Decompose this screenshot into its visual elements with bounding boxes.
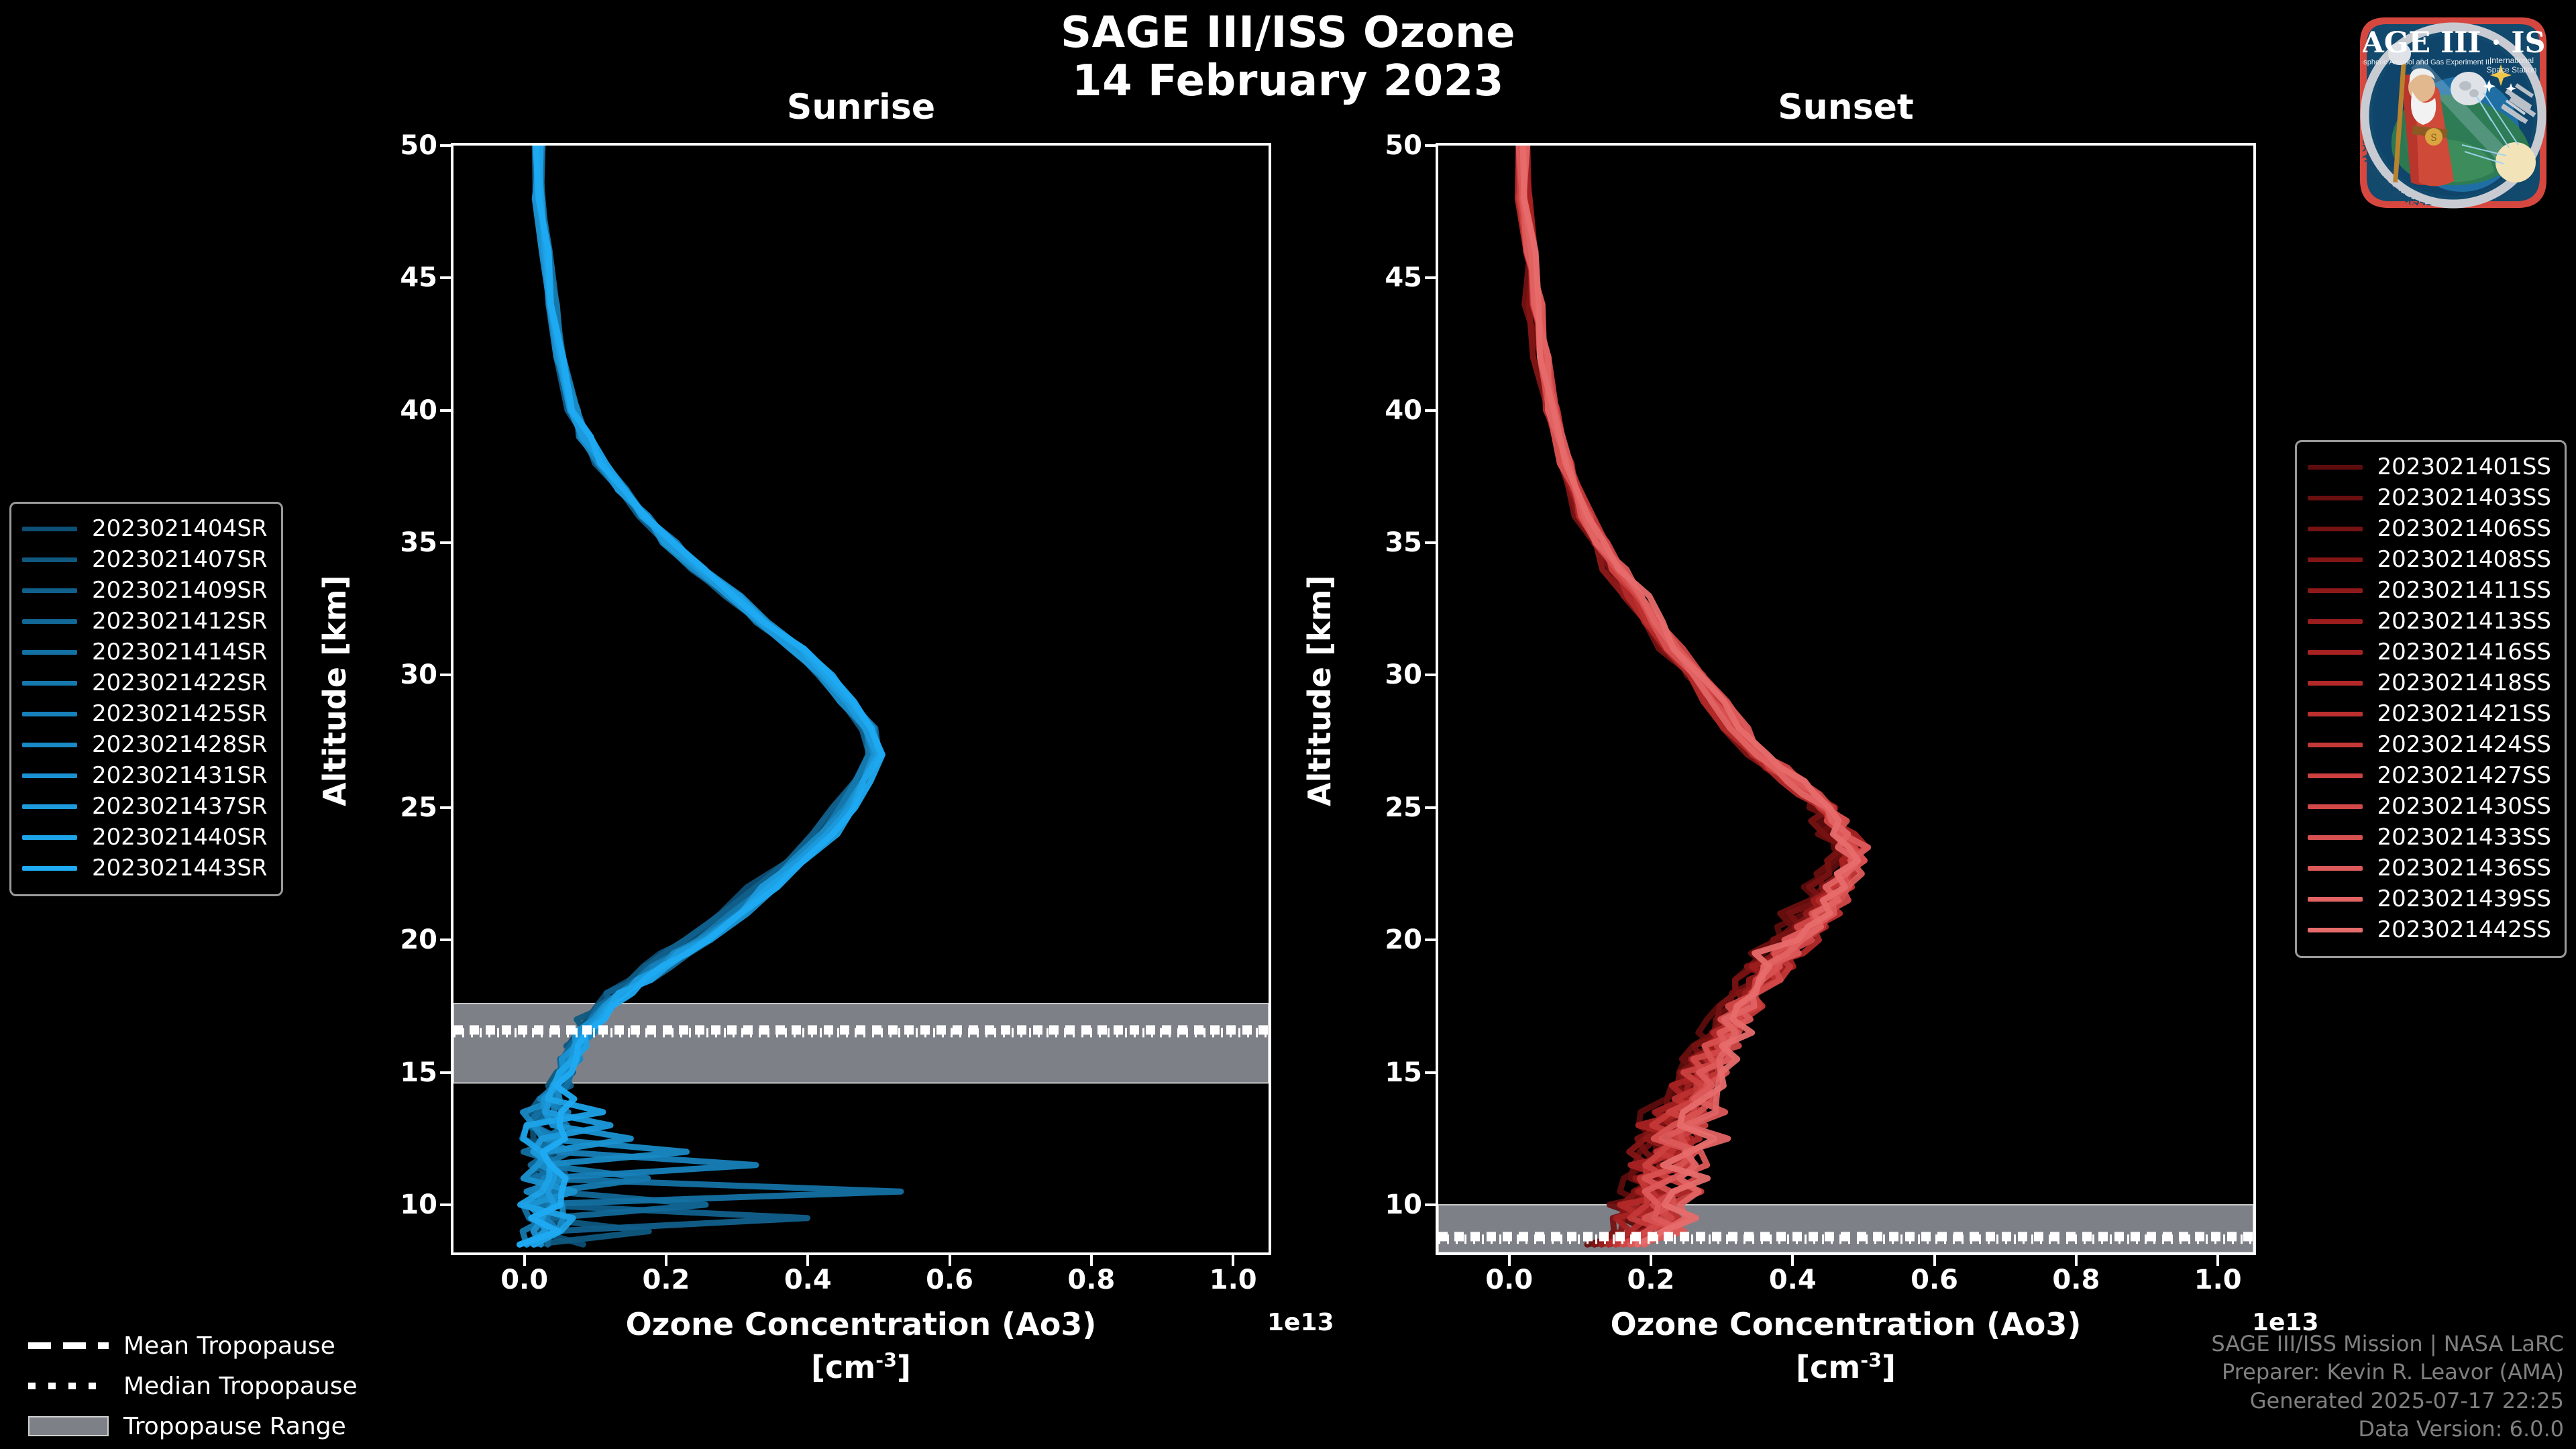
x-axis-tick-mark bbox=[2216, 1255, 2219, 1266]
y-axis-tick-mark bbox=[440, 409, 451, 412]
legend-color-swatch-icon bbox=[22, 557, 77, 562]
legend-series-label: 2023021412SR bbox=[92, 610, 268, 633]
y-axis-tick-mark bbox=[440, 674, 451, 676]
legend-series-label: 2023021427SS bbox=[2377, 764, 2551, 787]
legend-row[interactable]: 2023021433SS bbox=[2308, 822, 2551, 853]
y-axis-tick-label: 15 bbox=[364, 1057, 437, 1088]
y-axis-tick-mark bbox=[440, 1203, 451, 1206]
credits-line-version: Data Version: 6.0.0 bbox=[2211, 1415, 2564, 1444]
x-axis-tick-mark bbox=[1232, 1255, 1234, 1266]
legend-row[interactable]: 2023021418SS bbox=[2308, 667, 2551, 698]
logo-title-text: SAGE III · ISS bbox=[2343, 26, 2564, 60]
y-axis-tick-label: 40 bbox=[364, 395, 437, 426]
credits-line-generated: Generated 2025-07-17 22:25 bbox=[2211, 1387, 2564, 1415]
legend-series-label: 2023021401SS bbox=[2377, 455, 2551, 478]
y-axis-tick-label: 30 bbox=[1348, 659, 1422, 690]
x-axis-label: Ozone Concentration (Ao3) bbox=[451, 1306, 1271, 1342]
legend-series-label: 2023021404SR bbox=[92, 517, 268, 540]
legend-row[interactable]: 2023021406SS bbox=[2308, 513, 2551, 544]
tropopause-legend: Mean Tropopause Median Tropopause Tropop… bbox=[9, 1326, 358, 1446]
x-axis-tick-mark bbox=[806, 1255, 809, 1266]
tropopause-range-label: Tropopause Range bbox=[123, 1413, 346, 1440]
x-axis-label: Ozone Concentration (Ao3) bbox=[1436, 1306, 2256, 1342]
x-axis-tick-mark bbox=[665, 1255, 667, 1266]
legend-color-swatch-icon bbox=[2308, 619, 2363, 624]
sage-iii-iss-mission-patch-logo: S SAGE III · ISS Stratospheric Aerosol a… bbox=[2343, 3, 2564, 224]
legend-series-label: 2023021408SS bbox=[2377, 548, 2551, 571]
x-axis-tick-mark bbox=[2075, 1255, 2078, 1266]
x-axis-tick-mark bbox=[1791, 1255, 1794, 1266]
dashed-line-icon bbox=[28, 1338, 109, 1353]
y-axis-tick-label: 10 bbox=[1348, 1189, 1422, 1220]
legend-color-swatch-icon bbox=[2308, 712, 2363, 716]
legend-color-swatch-icon bbox=[2308, 557, 2363, 562]
legend-row[interactable]: 2023021408SS bbox=[2308, 544, 2551, 575]
legend-color-swatch-icon bbox=[2308, 496, 2363, 500]
y-axis-tick-mark bbox=[440, 541, 451, 544]
y-axis-tick-mark bbox=[440, 806, 451, 809]
y-axis-tick-mark bbox=[1425, 541, 1436, 544]
y-axis-tick-mark bbox=[1425, 674, 1436, 676]
legend-row[interactable]: 2023021442SS bbox=[2308, 914, 2551, 945]
sunset-profile-plot bbox=[1438, 146, 2253, 1252]
x-axis-tick-mark bbox=[1650, 1255, 1652, 1266]
legend-row[interactable]: 2023021428SR bbox=[22, 729, 268, 760]
x-axis-tick-label: 0.0 bbox=[1485, 1265, 1533, 1295]
legend-row[interactable]: 2023021431SR bbox=[22, 760, 268, 791]
x-axis-tick-label: 0.2 bbox=[643, 1265, 690, 1295]
tropopause-range-band bbox=[1438, 1205, 2253, 1252]
y-axis-tick-label: 35 bbox=[1348, 527, 1422, 558]
legend-series-label: 2023021430SS bbox=[2377, 795, 2551, 818]
legend-row[interactable]: 2023021437SR bbox=[22, 791, 268, 822]
y-axis-tick-label: 45 bbox=[364, 262, 437, 293]
sunrise-panel-title: Sunrise bbox=[451, 87, 1271, 127]
legend-row[interactable]: 2023021439SS bbox=[2308, 883, 2551, 914]
legend-series-label: 2023021403SS bbox=[2377, 486, 2551, 509]
y-axis-tick-label: 25 bbox=[1348, 792, 1422, 823]
legend-row[interactable]: 2023021440SR bbox=[22, 822, 268, 853]
y-axis-label: Altitude [km] bbox=[317, 575, 353, 806]
legend-series-label: 2023021414SR bbox=[92, 641, 268, 663]
legend-color-swatch-icon bbox=[2308, 866, 2363, 871]
svg-text:S: S bbox=[2430, 133, 2437, 144]
logo-subtitle-right-2: Space Station bbox=[2487, 65, 2537, 74]
y-axis-tick-mark bbox=[440, 938, 451, 941]
legend-series-label: 2023021425SR bbox=[92, 702, 268, 725]
legend-color-swatch-icon bbox=[2308, 897, 2363, 902]
x-axis-units-label: [cm-3] bbox=[1436, 1349, 2256, 1385]
legend-row[interactable]: 2023021404SR bbox=[22, 513, 268, 544]
x-axis-tick-label: 1.0 bbox=[2194, 1265, 2242, 1295]
x-axis-tick-mark bbox=[1508, 1255, 1511, 1266]
x-axis-tick-mark bbox=[949, 1255, 951, 1266]
y-axis-tick-mark bbox=[1425, 938, 1436, 941]
y-axis-tick-label: 15 bbox=[1348, 1057, 1422, 1088]
y-axis-tick-label: 20 bbox=[1348, 924, 1422, 955]
legend-series-label: 2023021428SR bbox=[92, 733, 268, 756]
legend-series-label: 2023021437SR bbox=[92, 795, 268, 818]
x-axis-units-label: [cm-3] bbox=[451, 1349, 1271, 1385]
legend-series-label: 2023021406SS bbox=[2377, 517, 2551, 540]
legend-series-label: 2023021443SR bbox=[92, 857, 268, 879]
legend-row[interactable]: 2023021407SR bbox=[22, 544, 268, 575]
y-axis-tick-mark bbox=[1425, 1203, 1436, 1206]
x-axis-tick-label: 1.0 bbox=[1210, 1265, 1257, 1295]
legend-row[interactable]: 2023021436SS bbox=[2308, 853, 2551, 883]
sunset-plot-panel bbox=[1436, 143, 2256, 1255]
x-axis-tick-label: 0.6 bbox=[1911, 1265, 1958, 1295]
y-axis-tick-label: 25 bbox=[364, 792, 437, 823]
legend-row-mean-tropopause: Mean Tropopause bbox=[9, 1326, 358, 1366]
legend-color-swatch-icon bbox=[22, 804, 77, 809]
legend-color-swatch-icon bbox=[2308, 465, 2363, 470]
x-axis-tick-label: 0.8 bbox=[2052, 1265, 2100, 1295]
x-axis-tick-mark bbox=[1933, 1255, 1936, 1266]
x-axis-tick-label: 0.4 bbox=[1769, 1265, 1817, 1295]
y-axis-tick-label: 40 bbox=[1348, 395, 1422, 426]
legend-color-swatch-icon bbox=[22, 743, 77, 747]
y-axis-tick-mark bbox=[440, 144, 451, 147]
legend-color-swatch-icon bbox=[22, 619, 77, 624]
legend-row-median-tropopause: Median Tropopause bbox=[9, 1366, 358, 1406]
x-axis-tick-label: 0.2 bbox=[1627, 1265, 1675, 1295]
legend-color-swatch-icon bbox=[22, 773, 77, 778]
y-axis-tick-mark bbox=[440, 276, 451, 279]
y-axis-tick-label: 10 bbox=[364, 1189, 437, 1220]
legend-row[interactable]: 2023021430SS bbox=[2308, 791, 2551, 822]
legend-series-label: 2023021411SS bbox=[2377, 579, 2551, 602]
sunrise-series-legend: 2023021404SR2023021407SR2023021409SR2023… bbox=[9, 502, 283, 896]
legend-series-label: 2023021416SS bbox=[2377, 641, 2551, 663]
sunset-series-legend: 2023021401SS2023021403SS2023021406SS2023… bbox=[2295, 440, 2567, 958]
legend-color-swatch-icon bbox=[2308, 588, 2363, 593]
legend-color-swatch-icon bbox=[22, 650, 77, 655]
y-axis-tick-mark bbox=[1425, 276, 1436, 279]
legend-series-label: 2023021418SS bbox=[2377, 672, 2551, 694]
legend-color-swatch-icon bbox=[22, 681, 77, 686]
y-axis-tick-label: 20 bbox=[364, 924, 437, 955]
legend-row[interactable]: 2023021412SR bbox=[22, 606, 268, 637]
filled-band-icon bbox=[28, 1419, 109, 1434]
mean-tropopause-label: Mean Tropopause bbox=[123, 1332, 335, 1360]
legend-series-label: 2023021439SS bbox=[2377, 888, 2551, 910]
x-axis-tick-label: 0.4 bbox=[784, 1265, 832, 1295]
legend-color-swatch-icon bbox=[2308, 835, 2363, 840]
legend-row[interactable]: 2023021401SS bbox=[2308, 451, 2551, 482]
y-axis-tick-mark bbox=[1425, 1071, 1436, 1074]
legend-color-swatch-icon bbox=[2308, 650, 2363, 655]
legend-row[interactable]: 2023021414SR bbox=[22, 637, 268, 667]
median-tropopause-label: Median Tropopause bbox=[123, 1373, 358, 1400]
legend-color-swatch-icon bbox=[2308, 743, 2363, 747]
legend-series-label: 2023021421SS bbox=[2377, 702, 2551, 725]
legend-series-label: 2023021440SR bbox=[92, 826, 268, 849]
legend-row[interactable]: 2023021424SS bbox=[2308, 729, 2551, 760]
legend-color-swatch-icon bbox=[2308, 527, 2363, 531]
legend-series-label: 2023021413SS bbox=[2377, 610, 2551, 633]
logo-subtitle-left: Stratospheric Aerosol and Gas Experiment… bbox=[2344, 58, 2491, 66]
legend-row[interactable]: 2023021413SS bbox=[2308, 606, 2551, 637]
title-line-1: SAGE III/ISS Ozone bbox=[0, 9, 2576, 58]
x-axis-tick-mark bbox=[1090, 1255, 1093, 1266]
legend-color-swatch-icon bbox=[2308, 804, 2363, 809]
legend-color-swatch-icon bbox=[22, 588, 77, 593]
sunset-panel-title: Sunset bbox=[1436, 87, 2256, 127]
legend-row[interactable]: 2023021443SR bbox=[22, 853, 268, 883]
legend-color-swatch-icon bbox=[2308, 928, 2363, 932]
legend-row-tropopause-range: Tropopause Range bbox=[9, 1406, 358, 1446]
dotted-line-icon bbox=[28, 1379, 109, 1393]
sunrise-plot-panel bbox=[451, 143, 1271, 1255]
legend-series-label: 2023021431SR bbox=[92, 764, 268, 787]
sunrise-profile-plot bbox=[453, 146, 1269, 1252]
y-axis-tick-mark bbox=[1425, 144, 1436, 147]
legend-color-swatch-icon bbox=[22, 712, 77, 716]
legend-row[interactable]: 2023021403SS bbox=[2308, 482, 2551, 513]
y-axis-tick-mark bbox=[1425, 806, 1436, 809]
y-axis-tick-label: 30 bbox=[364, 659, 437, 690]
legend-color-swatch-icon bbox=[2308, 773, 2363, 778]
y-axis-tick-label: 50 bbox=[364, 130, 437, 161]
legend-series-label: 2023021409SR bbox=[92, 579, 268, 602]
legend-row[interactable]: 2023021427SS bbox=[2308, 760, 2551, 791]
x-axis-tick-label: 0.0 bbox=[500, 1265, 548, 1295]
legend-color-swatch-icon bbox=[22, 866, 77, 871]
credits-line-preparer: Preparer: Kevin R. Leavor (AMA) bbox=[2211, 1358, 2564, 1387]
x-axis-tick-mark bbox=[523, 1255, 526, 1266]
legend-series-label: 2023021433SS bbox=[2377, 826, 2551, 849]
x-axis-offset-multiplier: 1e13 bbox=[1267, 1309, 1334, 1336]
legend-series-label: 2023021424SS bbox=[2377, 733, 2551, 756]
legend-series-label: 2023021442SS bbox=[2377, 918, 2551, 941]
legend-series-label: 2023021422SR bbox=[92, 672, 268, 694]
credits-line-mission: SAGE III/ISS Mission | NASA LaRC bbox=[2211, 1330, 2564, 1358]
legend-row[interactable]: 2023021425SR bbox=[22, 698, 268, 729]
legend-row[interactable]: 2023021421SS bbox=[2308, 698, 2551, 729]
legend-color-swatch-icon bbox=[2308, 681, 2363, 686]
y-axis-tick-label: 45 bbox=[1348, 262, 1422, 293]
credits-block: SAGE III/ISS Mission | NASA LaRC Prepare… bbox=[2211, 1330, 2564, 1444]
legend-color-swatch-icon bbox=[22, 835, 77, 840]
legend-series-label: 2023021436SS bbox=[2377, 857, 2551, 879]
y-axis-label: Altitude [km] bbox=[1301, 575, 1338, 806]
logo-subtitle-right-1: International bbox=[2489, 56, 2534, 65]
x-axis-tick-label: 0.8 bbox=[1067, 1265, 1115, 1295]
y-axis-tick-mark bbox=[440, 1071, 451, 1074]
legend-row[interactable]: 2023021411SS bbox=[2308, 575, 2551, 606]
legend-color-swatch-icon bbox=[22, 527, 77, 531]
legend-series-label: 2023021407SR bbox=[92, 548, 268, 571]
legend-row[interactable]: 2023021422SR bbox=[22, 667, 268, 698]
y-axis-tick-mark bbox=[1425, 409, 1436, 412]
y-axis-tick-label: 50 bbox=[1348, 130, 1422, 161]
x-axis-tick-label: 0.6 bbox=[926, 1265, 973, 1295]
y-axis-tick-label: 35 bbox=[364, 527, 437, 558]
legend-row[interactable]: 2023021416SS bbox=[2308, 637, 2551, 667]
legend-row[interactable]: 2023021409SR bbox=[22, 575, 268, 606]
